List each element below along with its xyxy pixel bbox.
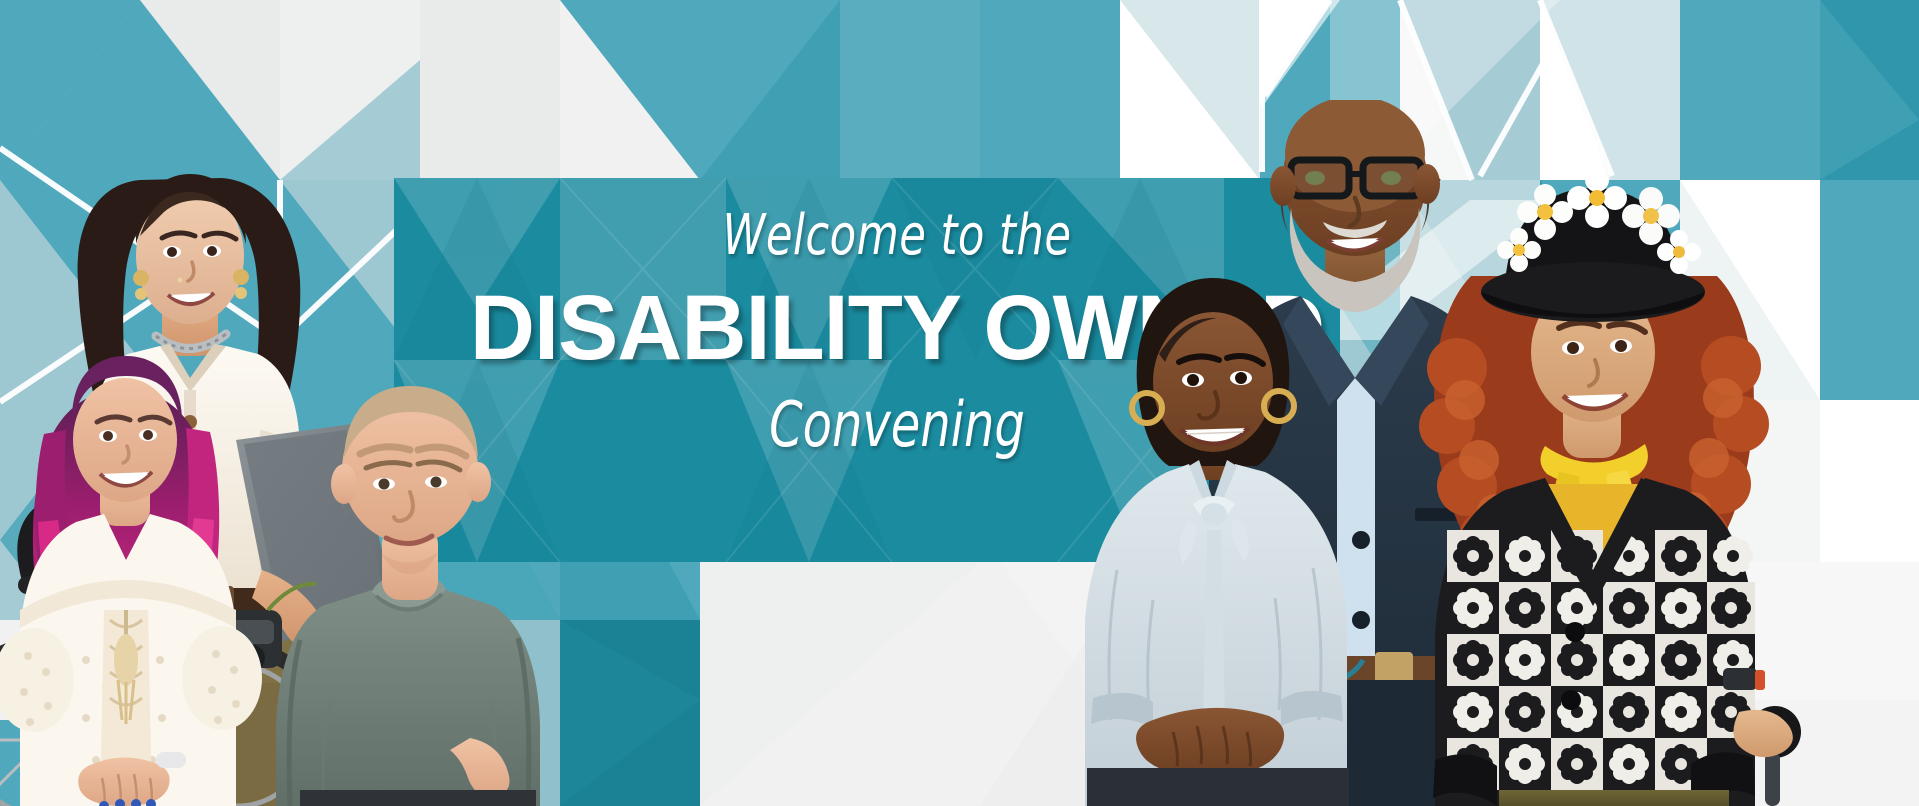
hero-banner: Welcome to the DISABILITY OWNED Convenin… bbox=[0, 0, 1919, 806]
people-group-right bbox=[1075, 100, 1919, 806]
people-group-left bbox=[0, 140, 545, 806]
floral-bucket-hat bbox=[1481, 168, 1705, 322]
person-woman-floral-hat-cardigan bbox=[1419, 168, 1801, 806]
